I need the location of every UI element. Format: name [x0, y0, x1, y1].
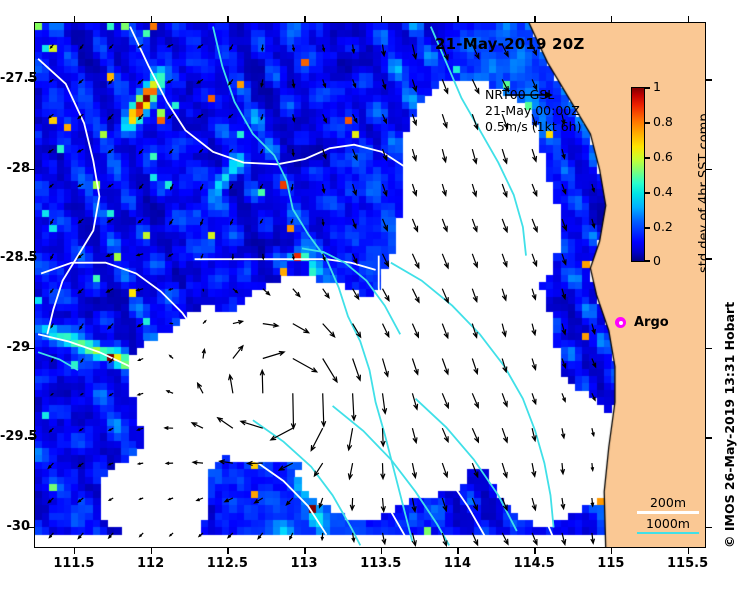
current-vector — [382, 393, 386, 413]
current-vector — [168, 45, 173, 47]
current-vector — [293, 289, 300, 297]
y-tick-mark — [28, 437, 34, 439]
isobath-200m — [222, 445, 326, 535]
current-vector — [472, 219, 477, 231]
current-vector — [198, 45, 203, 48]
colorbar-tick — [645, 192, 650, 194]
current-vector — [292, 254, 294, 259]
current-vector — [592, 219, 595, 228]
current-vector — [383, 324, 389, 337]
isobath-200m — [299, 424, 406, 539]
current-vector — [532, 533, 537, 545]
current-vector — [502, 324, 506, 337]
isobath-1000m — [431, 27, 526, 256]
x-tick-label: 112.5 — [197, 556, 257, 571]
current-vector — [502, 219, 507, 232]
current-vector — [562, 359, 566, 368]
current-vector — [109, 463, 113, 465]
argo-legend-label: Argo — [634, 315, 669, 330]
current-vector — [353, 219, 356, 228]
current-vector — [139, 114, 144, 119]
colorbar-tick — [645, 157, 650, 159]
current-vector — [412, 428, 417, 443]
current-vector — [78, 149, 83, 152]
current-vector — [472, 289, 477, 302]
current-vector — [168, 114, 173, 118]
map-plot-area[interactable]: 21-May-2019 20Z NRT00 GSL 21-May 00:00Z … — [34, 22, 706, 548]
current-vector — [591, 463, 594, 470]
y-tick-mark — [28, 169, 34, 171]
current-vector — [353, 184, 357, 195]
current-vector — [532, 219, 537, 232]
current-vector — [592, 393, 595, 400]
current-vector — [107, 289, 114, 292]
x-tick-mark — [74, 16, 76, 22]
current-vector — [472, 428, 478, 442]
current-vector — [229, 375, 233, 393]
current-vector — [562, 219, 566, 230]
current-vector — [293, 324, 309, 333]
current-vector — [170, 356, 173, 359]
current-vector — [80, 324, 84, 329]
colorbar-tick — [645, 260, 650, 262]
current-vector — [442, 359, 448, 375]
current-vector — [78, 498, 83, 502]
current-vector — [81, 393, 83, 394]
current-vector — [261, 149, 263, 153]
current-vector — [311, 428, 323, 450]
colorbar-label: 1 — [653, 79, 661, 94]
current-vector — [561, 428, 564, 438]
current-vector — [138, 428, 144, 430]
current-vector — [383, 254, 389, 266]
current-vector — [561, 498, 565, 509]
current-vector — [323, 114, 327, 122]
current-vector — [472, 184, 476, 196]
current-vector — [353, 254, 357, 263]
current-vector — [169, 498, 173, 500]
current-vector — [166, 462, 173, 465]
current-vector — [225, 498, 233, 502]
current-vector — [79, 219, 84, 223]
current-vector — [532, 359, 536, 370]
current-vector — [255, 498, 263, 503]
annotation-block: NRT00 GSL 21-May 00:00Z 0.5m/s (1kt 6h) — [485, 87, 581, 135]
current-vector — [412, 45, 416, 59]
current-vector — [353, 79, 356, 87]
current-vector — [81, 359, 83, 362]
current-vector — [80, 428, 84, 430]
current-vector — [472, 498, 477, 510]
current-vector — [472, 254, 477, 267]
current-vector — [591, 498, 594, 506]
current-vector — [79, 463, 84, 466]
current-vector — [348, 463, 352, 479]
current-vector — [229, 79, 233, 84]
current-vector — [412, 219, 417, 231]
current-vector — [170, 323, 173, 324]
current-vector — [139, 219, 144, 223]
current-vector — [263, 323, 278, 327]
current-vector — [502, 184, 507, 197]
x-tick-mark — [381, 548, 383, 554]
isobath-200m — [38, 334, 173, 406]
x-tick-label: 115 — [581, 556, 641, 571]
current-vector — [292, 114, 294, 121]
current-vector — [139, 359, 144, 361]
current-vector — [562, 533, 566, 545]
current-vector — [78, 533, 83, 539]
current-vector — [322, 219, 324, 225]
current-vector — [292, 79, 295, 87]
current-vector — [412, 114, 416, 125]
depth-legend-200m: 200m — [637, 495, 699, 514]
current-vector — [171, 184, 173, 189]
y-tick-label: -27.5 — [0, 71, 30, 86]
isobath-200m — [379, 256, 382, 320]
current-vector — [137, 254, 143, 256]
current-vector — [261, 45, 263, 51]
x-tick-mark — [304, 548, 306, 554]
current-vector — [261, 114, 263, 119]
current-vector — [79, 184, 84, 186]
current-vector — [201, 254, 203, 258]
current-vector — [220, 460, 233, 464]
current-vector — [353, 149, 357, 160]
y-tick-mark — [706, 79, 712, 81]
current-vector — [48, 498, 53, 503]
x-tick-label: 114 — [427, 556, 487, 571]
y-tick-mark — [706, 527, 712, 529]
current-vector — [137, 289, 143, 291]
current-vector — [110, 45, 113, 49]
current-vector — [323, 289, 329, 298]
current-vector — [442, 184, 446, 195]
colorbar-label: 0 — [653, 253, 661, 268]
current-vector — [502, 149, 507, 163]
current-vector — [233, 346, 243, 359]
x-tick-mark — [304, 16, 306, 22]
current-vector — [502, 289, 506, 300]
current-vector — [199, 533, 203, 537]
current-vector — [412, 463, 416, 478]
current-vector — [49, 114, 54, 118]
x-tick-mark — [688, 16, 690, 22]
current-vector — [51, 45, 54, 48]
current-vector — [138, 79, 143, 83]
current-vector — [502, 254, 507, 267]
current-vector — [169, 289, 173, 290]
x-tick-mark — [457, 548, 459, 554]
current-vector — [263, 289, 270, 295]
y-tick-mark — [28, 258, 34, 260]
x-tick-mark — [534, 548, 536, 554]
current-vector — [292, 45, 294, 51]
current-vector — [412, 254, 418, 268]
y-tick-mark — [706, 169, 712, 171]
current-vector — [48, 463, 53, 468]
current-vector — [412, 498, 416, 512]
current-vector — [532, 289, 536, 300]
current-vector — [279, 463, 293, 470]
current-vector — [562, 184, 566, 194]
current-vector — [412, 79, 416, 91]
current-vector — [233, 321, 243, 325]
current-vector — [80, 45, 83, 49]
colorbar-gradient — [631, 87, 645, 262]
current-vector — [502, 393, 507, 406]
current-vector — [472, 114, 478, 129]
current-vector — [230, 149, 233, 152]
current-vector — [52, 359, 54, 362]
x-tick-mark — [381, 16, 383, 22]
current-vector — [562, 289, 566, 299]
x-tick-label: 113 — [274, 556, 334, 571]
current-vector — [165, 427, 173, 430]
current-vector — [382, 533, 386, 544]
current-vector — [591, 533, 595, 543]
current-vector — [562, 324, 566, 335]
isobath-1000m — [253, 420, 360, 545]
argo-legend: Argo — [615, 315, 669, 330]
colorbar-label: 0.4 — [653, 184, 673, 199]
current-vector — [138, 393, 143, 395]
current-vector — [412, 184, 416, 195]
current-vector — [592, 184, 595, 191]
depth-legend-1000m: 1000m — [637, 516, 699, 535]
current-vector — [109, 149, 114, 153]
current-vector — [193, 461, 203, 465]
argo-marker-icon — [615, 317, 626, 328]
current-vector — [229, 114, 233, 117]
current-vector — [138, 463, 143, 465]
current-vector — [291, 393, 295, 428]
current-vector — [442, 254, 448, 268]
current-vector — [109, 428, 113, 430]
current-vector — [323, 79, 326, 87]
isobath-1000m — [416, 399, 517, 531]
current-vector — [412, 324, 418, 338]
current-vector — [562, 254, 566, 265]
current-vector — [108, 324, 113, 329]
current-vector — [109, 79, 113, 83]
map-overlays — [35, 23, 706, 548]
current-vector — [322, 184, 325, 193]
current-vector — [230, 45, 233, 50]
current-vector — [592, 359, 596, 367]
current-vector — [383, 79, 386, 88]
current-vector — [383, 289, 390, 301]
y-tick-mark — [28, 348, 34, 350]
colorbar-tick — [645, 227, 650, 229]
current-vector — [383, 219, 388, 231]
y-tick-label: -29 — [0, 340, 30, 355]
y-tick-label: -30 — [0, 519, 30, 534]
current-vector — [442, 428, 448, 442]
isobath-1000m — [38, 352, 78, 370]
x-tick-mark — [688, 548, 690, 554]
current-vector — [383, 114, 387, 123]
current-vector — [169, 254, 173, 256]
current-vector — [233, 289, 237, 293]
current-vector — [138, 324, 143, 327]
current-vector — [352, 393, 356, 420]
current-vector — [292, 149, 294, 156]
y-tick-label: -28.5 — [0, 250, 30, 265]
colorbar-label: 0.8 — [653, 114, 673, 129]
y-tick-mark — [28, 527, 34, 529]
current-vector — [51, 254, 54, 259]
x-tick-mark — [534, 16, 536, 22]
current-vector — [592, 428, 595, 436]
current-vector — [192, 423, 203, 428]
current-vector — [170, 219, 173, 224]
current-vector — [109, 184, 114, 187]
current-vector — [51, 289, 54, 293]
current-vector — [442, 498, 447, 511]
current-vector — [502, 428, 507, 442]
current-vector — [218, 418, 233, 428]
current-vector — [383, 184, 387, 196]
current-vector — [323, 324, 335, 337]
x-tick-mark — [611, 16, 613, 22]
current-vector — [203, 321, 206, 324]
current-vector — [472, 149, 477, 163]
isobath-200m — [130, 27, 498, 288]
current-vector — [562, 393, 565, 401]
depth-200m-label: 200m — [650, 495, 686, 510]
current-vector — [322, 393, 326, 426]
current-vector — [323, 359, 337, 382]
current-vector — [140, 149, 144, 153]
current-vector — [532, 184, 537, 196]
current-vector — [109, 533, 114, 538]
colorbar-label: 0.2 — [653, 219, 673, 234]
isobath-200m — [38, 59, 99, 335]
current-vector — [110, 359, 114, 363]
x-tick-label: 113.5 — [351, 556, 411, 571]
x-tick-label: 111.5 — [44, 556, 104, 571]
x-tick-mark — [457, 16, 459, 22]
x-tick-label: 112 — [121, 556, 181, 571]
current-vector — [442, 289, 448, 303]
x-tick-mark — [151, 548, 153, 554]
current-vector — [532, 463, 536, 476]
current-vector — [592, 324, 596, 334]
current-vector — [532, 393, 536, 404]
current-vector — [353, 289, 359, 299]
current-vector — [140, 184, 144, 188]
current-vector — [561, 463, 565, 474]
current-vector — [232, 254, 234, 259]
current-vector — [442, 79, 448, 93]
x-tick-label: 115.5 — [658, 556, 718, 571]
x-tick-mark — [611, 548, 613, 554]
current-vector — [168, 79, 174, 82]
colorbar-label: 0.6 — [653, 149, 673, 164]
x-tick-mark — [227, 548, 229, 554]
annotation-vector-scale: 0.5m/s (1kt 6h) — [485, 119, 581, 135]
depth-1000m-label: 1000m — [646, 516, 690, 531]
isobath-200m — [41, 263, 198, 335]
current-vector — [472, 359, 477, 374]
current-vector — [260, 184, 262, 188]
current-vector — [562, 149, 565, 158]
depth-1000m-rule — [637, 532, 699, 535]
y-tick-mark — [706, 258, 712, 260]
current-vector — [291, 184, 293, 190]
current-vector — [381, 463, 385, 479]
current-vector — [353, 114, 357, 122]
annotation-valid-time: 21-May 00:00Z — [485, 103, 581, 119]
current-vector — [532, 324, 536, 335]
current-vector — [293, 359, 317, 372]
depth-contour-legend: 200m 1000m — [637, 495, 699, 534]
colorbar-tick — [645, 122, 650, 124]
current-vector — [412, 359, 418, 375]
current-vector — [79, 289, 84, 293]
current-vector — [261, 219, 263, 223]
current-vector — [352, 45, 355, 53]
current-vector — [350, 498, 354, 510]
current-vector — [198, 114, 203, 117]
current-vector — [228, 533, 233, 538]
y-tick-mark — [706, 437, 712, 439]
x-tick-label: 114.5 — [504, 556, 564, 571]
current-vector — [51, 393, 53, 395]
current-vector — [286, 498, 292, 505]
current-vector — [319, 498, 323, 507]
figure-canvas: 21-May-2019 20Z NRT00 GSL 21-May 00:00Z … — [0, 0, 739, 592]
current-vector — [314, 463, 322, 476]
current-vector — [263, 352, 284, 359]
current-vector — [197, 498, 203, 501]
current-vector — [50, 79, 54, 81]
current-vector — [140, 498, 144, 499]
current-vector — [532, 149, 536, 161]
current-vector — [109, 498, 113, 500]
current-vector — [51, 324, 53, 328]
current-vector — [170, 149, 173, 153]
current-vector — [49, 149, 54, 152]
reference-arrow-icon — [503, 88, 563, 102]
current-vector — [107, 254, 114, 257]
current-vector — [383, 359, 389, 377]
current-vector — [321, 533, 323, 540]
current-vector — [49, 533, 53, 538]
current-vector — [442, 114, 447, 127]
current-vector — [200, 149, 203, 152]
x-tick-mark — [227, 16, 229, 22]
y-tick-mark — [28, 79, 34, 81]
current-vector — [442, 219, 447, 231]
current-vector — [412, 533, 416, 546]
current-vector — [502, 463, 507, 477]
current-vector — [197, 79, 203, 83]
current-vector — [231, 219, 233, 224]
colorbar-tick — [645, 87, 650, 89]
current-vector — [472, 393, 478, 407]
current-vector — [230, 184, 233, 188]
current-vector — [291, 219, 293, 223]
current-vector — [348, 428, 353, 450]
current-vector — [532, 254, 537, 266]
current-vector — [412, 393, 417, 409]
current-vector — [51, 219, 54, 224]
current-vector — [442, 393, 448, 408]
map-title: 21-May-2019 20Z — [435, 35, 584, 53]
current-vector — [442, 149, 446, 162]
